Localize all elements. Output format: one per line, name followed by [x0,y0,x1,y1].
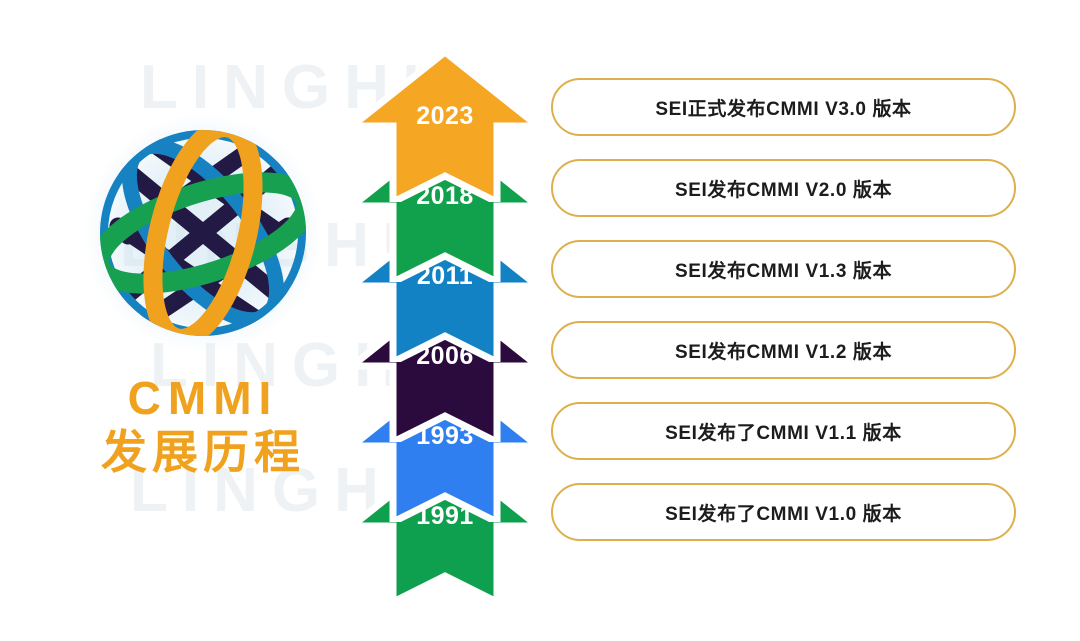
brand-subtitle: 发展历程 [58,427,348,478]
timeline-label-text: SEI正式发布CMMI V3.0 版本 [655,94,911,121]
timeline-label-pill-2023[interactable]: SEI正式发布CMMI V3.0 版本 [551,78,1016,136]
timeline-label-column: SEI正式发布CMMI V3.0 版本SEI发布CMMI V2.0 版本SEI发… [551,78,1016,564]
timeline-label-text: SEI发布了CMMI V1.1 版本 [665,418,902,445]
cmmi-timeline-infographic: LINGHU LINGHU LINGHU LINGHU [0,0,1080,641]
cmmi-globe-logo [88,118,318,348]
brand-block: CMMI 发展历程 [58,118,348,477]
timeline-label-text: SEI发布CMMI V1.3 版本 [675,256,892,283]
timeline-label-pill-2011[interactable]: SEI发布CMMI V1.3 版本 [551,240,1016,298]
timeline-label-pill-2018[interactable]: SEI发布CMMI V2.0 版本 [551,159,1016,217]
timeline-label-text: SEI发布CMMI V2.0 版本 [675,175,892,202]
timeline-label-pill-1991[interactable]: SEI发布了CMMI V1.0 版本 [551,483,1016,541]
timeline-arrow-2023[interactable]: 2023 [352,52,538,202]
timeline-label-text: SEI发布了CMMI V1.0 版本 [665,499,902,526]
arrow-year-label: 2023 [352,102,538,131]
timeline-label-pill-2006[interactable]: SEI发布CMMI V1.2 版本 [551,321,1016,379]
timeline-label-pill-1993[interactable]: SEI发布了CMMI V1.1 版本 [551,402,1016,460]
timeline-arrow-column: 202320182011200619931991 [352,52,538,582]
timeline-label-text: SEI发布CMMI V1.2 版本 [675,337,892,364]
globe-icon [88,118,318,348]
brand-title: CMMI [58,374,348,423]
